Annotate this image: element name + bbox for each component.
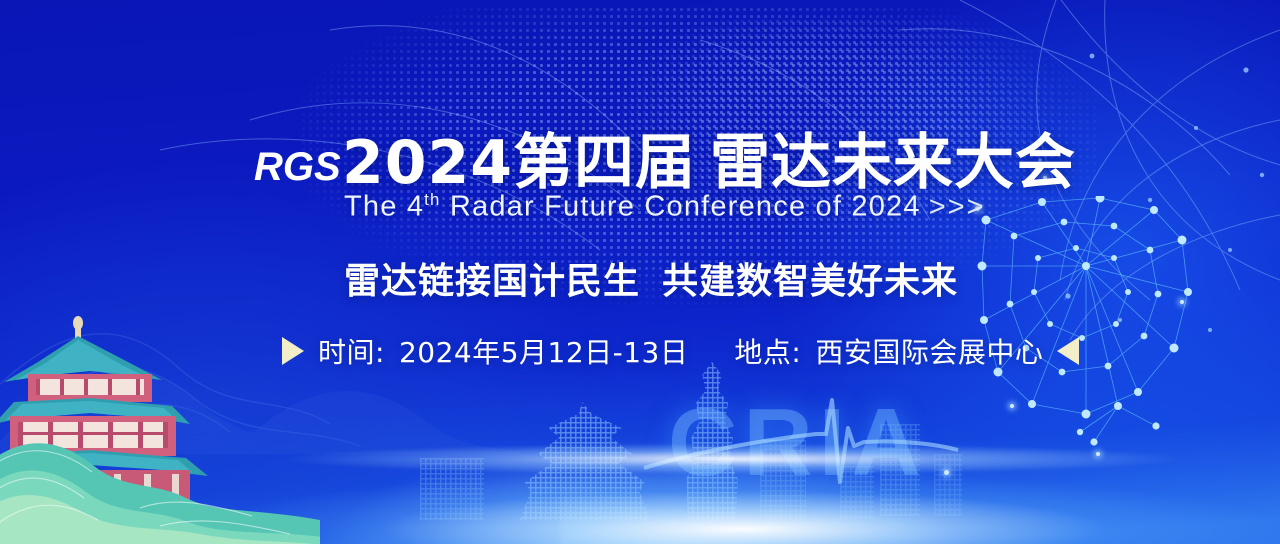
event-info-line: 时间: 2024年5月12日-13日 地点: 西安国际会展中心	[282, 331, 1079, 371]
subtitle-main: Radar Future Conference of 2024	[441, 191, 921, 223]
subtitle: The 4th Radar Future Conference of 2024>…	[344, 190, 986, 224]
subtitle-ordinal: th	[424, 190, 440, 209]
title-edition: 第四届	[513, 128, 696, 198]
rgs-logo: RGS	[192, 112, 342, 216]
slogan-right: 共建数智美好未来	[662, 261, 958, 302]
page-title: 2024第四届雷达未来大会	[342, 114, 1076, 201]
play-triangle-right-icon	[282, 337, 304, 365]
date-value: 2024年5月12日-13日	[399, 331, 688, 371]
title-name: 雷达未来大会	[710, 128, 1076, 198]
conference-banner: CRIA	[0, 0, 1280, 544]
rgs-logo-text: RGS	[254, 145, 341, 189]
slogan-left: 雷达链接国计民生	[344, 261, 640, 302]
venue-value: 西安国际会展中心	[815, 331, 1043, 371]
subtitle-prefix: The 4	[344, 191, 424, 223]
play-triangle-left-icon	[1057, 337, 1079, 365]
date-label: 时间:	[318, 331, 385, 371]
chevrons-icon: >>>	[929, 191, 986, 223]
title-year: 2024	[342, 128, 513, 198]
venue-label: 地点:	[734, 331, 801, 371]
slogan: 雷达链接国计民生共建数智美好未来	[344, 252, 958, 304]
